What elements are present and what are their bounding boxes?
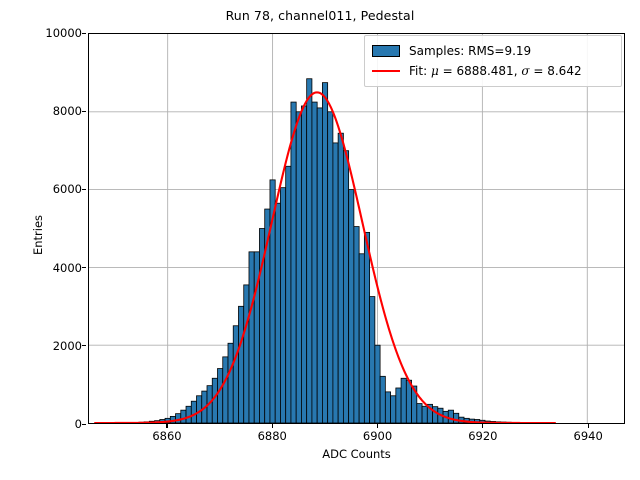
y-tick-label: 2000	[34, 339, 82, 353]
chart-figure: Run 78, channel011, Pedestal 02000400060…	[0, 0, 640, 480]
y-tick-mark	[82, 111, 86, 112]
x-tick-mark	[377, 424, 378, 428]
y-tick-label: 0	[34, 417, 82, 431]
x-tick-label: 6920	[468, 429, 497, 443]
legend-label-fit: Fit: μ = 6888.481, σ = 8.642	[409, 64, 582, 78]
x-tick-label: 6940	[574, 429, 603, 443]
legend-patch-icon	[372, 45, 400, 57]
y-tick-label: 10000	[34, 26, 82, 40]
y-tick-mark	[82, 424, 86, 425]
x-tick-label: 6900	[363, 429, 392, 443]
legend-fit-mu: 6888.481	[456, 64, 513, 78]
plot-area	[88, 33, 625, 424]
y-axis-label: Entries	[31, 175, 45, 295]
page-title: Run 78, channel011, Pedestal	[0, 8, 640, 23]
x-tick-mark	[272, 424, 273, 428]
x-tick-mark	[588, 424, 589, 428]
y-tick-mark	[82, 33, 86, 34]
y-tick-mark	[82, 189, 86, 190]
x-axis-label: ADC Counts	[88, 447, 625, 461]
y-tick-mark	[82, 345, 86, 346]
gaussian-fit-curve	[89, 34, 624, 423]
legend-label-samples: Samples: RMS=9.19	[409, 44, 531, 58]
legend-item-fit: Fit: μ = 6888.481, σ = 8.642	[372, 61, 614, 81]
y-tick-label: 8000	[34, 104, 82, 118]
x-tick-mark	[482, 424, 483, 428]
legend[interactable]: Samples: RMS=9.19 Fit: μ = 6888.481, σ =…	[364, 35, 622, 87]
x-tick-label: 6880	[258, 429, 287, 443]
y-tick-mark	[82, 267, 86, 268]
x-tick-label: 6860	[152, 429, 181, 443]
legend-fit-sigma: 8.642	[547, 64, 581, 78]
x-tick-mark	[166, 424, 167, 428]
legend-item-samples: Samples: RMS=9.19	[372, 41, 614, 61]
legend-line-icon	[372, 70, 400, 72]
